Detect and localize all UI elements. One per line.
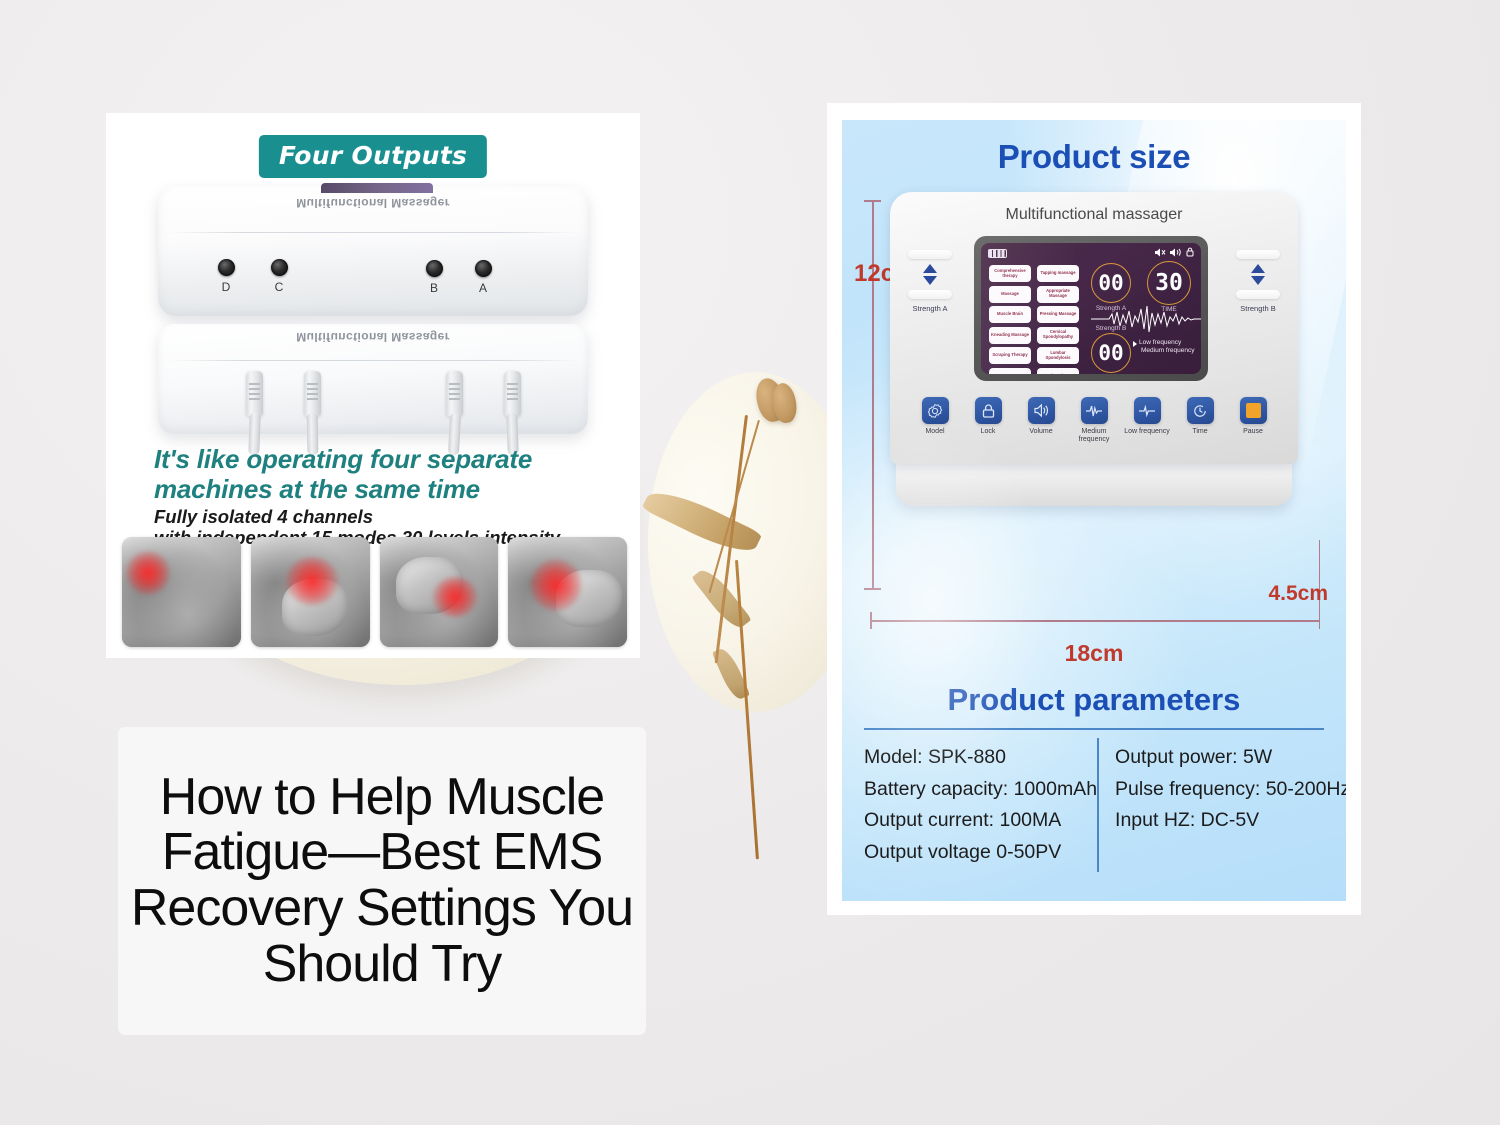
lock-icon bbox=[975, 397, 1002, 424]
strength-a-up-button[interactable] bbox=[908, 250, 952, 259]
function-button-row: Model Lock bbox=[910, 397, 1278, 445]
subline-1: Fully isolated 4 channels bbox=[154, 507, 624, 528]
output-port-a bbox=[475, 260, 492, 277]
strength-b-up-button[interactable] bbox=[1236, 250, 1280, 259]
mode-chip[interactable]: Muscle Brain bbox=[989, 306, 1031, 323]
lcd-bezel: Comprehensive therapy Massage Muscle Bra… bbox=[974, 236, 1208, 381]
cable-group bbox=[106, 361, 640, 456]
low-frequency-button[interactable]: Low frequency bbox=[1122, 397, 1172, 445]
pain-image-row bbox=[122, 537, 627, 647]
device-screen-edge bbox=[321, 183, 433, 193]
pulse-icon bbox=[1081, 397, 1108, 424]
volume-icon bbox=[1028, 397, 1055, 424]
gear-icon bbox=[922, 397, 949, 424]
cable-plug-4 bbox=[504, 371, 521, 417]
arrow-up-icon bbox=[923, 264, 937, 273]
frequency-medium-row: Medium frequency bbox=[1133, 347, 1194, 355]
dimension-label-depth: 4.5cm bbox=[1268, 582, 1328, 606]
mode-chip[interactable]: Tapping massage bbox=[1037, 265, 1079, 282]
lcd-mode-column-right: Tapping massage Appropriate Massage Pres… bbox=[1037, 265, 1079, 374]
time-button[interactable]: Time bbox=[1175, 397, 1225, 445]
battery-icon bbox=[988, 249, 1007, 258]
low-frequency-button-label: Low frequency bbox=[1122, 428, 1172, 436]
cable-plug-2 bbox=[304, 371, 321, 417]
model-button-label: Model bbox=[910, 428, 960, 436]
mute-icon bbox=[1155, 248, 1166, 257]
mode-chip[interactable]: Cupping Therapy bbox=[1037, 368, 1079, 375]
cable-plug-1 bbox=[246, 371, 263, 417]
device-base bbox=[896, 460, 1292, 506]
port-label-c: C bbox=[275, 280, 284, 294]
output-port-b bbox=[426, 260, 443, 277]
lcd-status-icons bbox=[1155, 247, 1194, 257]
port-label-b: B bbox=[430, 281, 438, 295]
mode-chip[interactable]: Comprehensive therapy bbox=[989, 265, 1031, 282]
param-current: Output current: 100MA bbox=[864, 805, 1097, 837]
arrow-down-icon bbox=[923, 276, 937, 285]
pause-square-shape bbox=[1246, 403, 1261, 418]
strength-b-control[interactable]: Strength B bbox=[1232, 250, 1284, 313]
device-brand-label-bottom: Multifunctional Massager bbox=[158, 330, 588, 344]
device-front-face: Multifunctional massager bbox=[890, 192, 1298, 464]
mode-chip[interactable]: Cervical Spondylopathy bbox=[1037, 327, 1079, 344]
pulse-icon bbox=[1134, 397, 1161, 424]
device-render: Multifunctional massager bbox=[890, 192, 1298, 522]
pain-image-lower-back bbox=[251, 537, 370, 647]
strength-b-value: 00 bbox=[1091, 333, 1131, 373]
pain-image-hip bbox=[508, 537, 627, 647]
lock-button[interactable]: Lock bbox=[963, 397, 1013, 445]
time-value: 30 bbox=[1147, 261, 1191, 305]
port-label-a: A bbox=[479, 281, 487, 295]
param-input-hz: Input HZ: DC-5V bbox=[1115, 805, 1346, 837]
cable-plug-3 bbox=[446, 371, 463, 417]
product-spec-card: Product size 12cm 4.5cm 18cm Multifuncti… bbox=[827, 103, 1361, 915]
strength-a-control-label: Strength A bbox=[904, 304, 956, 313]
pain-glow bbox=[285, 557, 339, 605]
param-voltage: Output voltage 0-50PV bbox=[864, 837, 1097, 869]
medium-frequency-button[interactable]: Medium frequency bbox=[1069, 397, 1119, 445]
selected-arrow-icon bbox=[1133, 341, 1137, 347]
mode-chip[interactable]: Kneading Massage bbox=[989, 327, 1031, 344]
lcd-screen: Comprehensive therapy Massage Muscle Bra… bbox=[981, 243, 1201, 374]
port-label-d: D bbox=[222, 280, 231, 294]
four-outputs-card: Four Outputs Multifunctional Massager D … bbox=[106, 113, 640, 658]
dimension-line-depth bbox=[1319, 540, 1321, 622]
mode-chip[interactable]: Massage bbox=[989, 286, 1031, 303]
pause-button[interactable]: Pause bbox=[1228, 397, 1278, 445]
strength-a-control[interactable]: Strength A bbox=[904, 250, 956, 313]
frequency-medium-label: Medium frequency bbox=[1141, 347, 1194, 355]
pain-image-neck bbox=[380, 537, 499, 647]
strength-b-control-label: Strength B bbox=[1232, 304, 1284, 313]
dimension-line-height bbox=[872, 200, 874, 590]
model-button[interactable]: Model bbox=[910, 397, 960, 445]
lock-button-label: Lock bbox=[963, 428, 1013, 436]
four-outputs-badge: Four Outputs bbox=[259, 135, 487, 178]
device-seam-top bbox=[168, 232, 578, 233]
page-title: How to Help Muscle Fatigue—Best EMS Reco… bbox=[118, 770, 646, 993]
dimension-label-width: 18cm bbox=[842, 640, 1346, 667]
strength-a-value: 00 bbox=[1091, 263, 1131, 303]
lcd-mode-column-left: Comprehensive therapy Massage Muscle Bra… bbox=[989, 265, 1031, 374]
pause-square-icon bbox=[1240, 397, 1267, 424]
mode-chip[interactable]: Pressing Massage bbox=[1037, 306, 1079, 323]
device-name-label: Multifunctional massager bbox=[890, 206, 1298, 224]
frequency-indicator: Low frequency Medium frequency bbox=[1133, 339, 1194, 355]
mode-chip[interactable]: Appropriate Massage bbox=[1037, 286, 1079, 303]
arrow-down-icon bbox=[1251, 276, 1265, 285]
clock-icon bbox=[1187, 397, 1214, 424]
strength-b-down-button[interactable] bbox=[1236, 290, 1280, 299]
pain-glow bbox=[126, 551, 170, 595]
dimension-cap-top bbox=[864, 200, 881, 202]
volume-button[interactable]: Volume bbox=[1016, 397, 1066, 445]
product-parameters-title: Product parameters bbox=[842, 682, 1346, 718]
dimension-cap-bottom bbox=[864, 588, 881, 590]
param-pulse-frequency: Pulse frequency: 50-200Hz bbox=[1115, 774, 1346, 806]
output-port-c bbox=[271, 259, 288, 276]
frequency-low-label: Low frequency bbox=[1139, 339, 1181, 347]
param-model: Model: SPK-880 bbox=[864, 742, 1097, 774]
output-port-d bbox=[218, 259, 235, 276]
param-output-power: Output power: 5W bbox=[1115, 742, 1346, 774]
parameters-table: Model: SPK-880 Battery capacity: 1000mAh… bbox=[864, 738, 1324, 872]
medium-frequency-button-label: Medium frequency bbox=[1069, 428, 1119, 445]
mode-chip[interactable]: Scraping Therapy bbox=[989, 347, 1031, 364]
device-brand-label-top: Multifunctional Massager bbox=[158, 196, 588, 210]
arrow-up-icon bbox=[1251, 264, 1265, 273]
device-top-unit: Multifunctional Massager D C B A bbox=[158, 186, 588, 316]
dimension-line-width bbox=[870, 620, 1320, 622]
lock-icon bbox=[1186, 247, 1194, 257]
frequency-low-row: Low frequency bbox=[1133, 339, 1194, 347]
mode-chip[interactable]: Acupuncture bbox=[989, 368, 1031, 375]
volume-button-label: Volume bbox=[1016, 428, 1066, 436]
time-button-label: Time bbox=[1175, 428, 1225, 436]
parameters-column-right: Output power: 5W Pulse frequency: 50-200… bbox=[1097, 738, 1346, 872]
strength-a-down-button[interactable] bbox=[908, 290, 952, 299]
marketing-headline: It's like operating four separate machin… bbox=[154, 444, 609, 504]
parameters-column-left: Model: SPK-880 Battery capacity: 1000mAh… bbox=[864, 738, 1097, 872]
product-size-title: Product size bbox=[842, 120, 1346, 176]
pain-glow bbox=[432, 577, 478, 617]
pause-button-label: Pause bbox=[1228, 428, 1278, 436]
dimension-cap-left bbox=[870, 612, 872, 629]
volume-icon bbox=[1170, 248, 1182, 257]
param-battery: Battery capacity: 1000mAh bbox=[864, 774, 1097, 806]
pain-glow bbox=[530, 559, 582, 611]
article-title-card: How to Help Muscle Fatigue—Best EMS Reco… bbox=[118, 727, 646, 1035]
blue-panel: Product size 12cm 4.5cm 18cm Multifuncti… bbox=[842, 120, 1346, 901]
parameters-divider bbox=[864, 728, 1324, 730]
mode-chip[interactable]: Lumbar Spondylosis bbox=[1037, 347, 1079, 364]
pain-image-shoulder bbox=[122, 537, 241, 647]
waveform-graphic bbox=[1091, 305, 1201, 333]
